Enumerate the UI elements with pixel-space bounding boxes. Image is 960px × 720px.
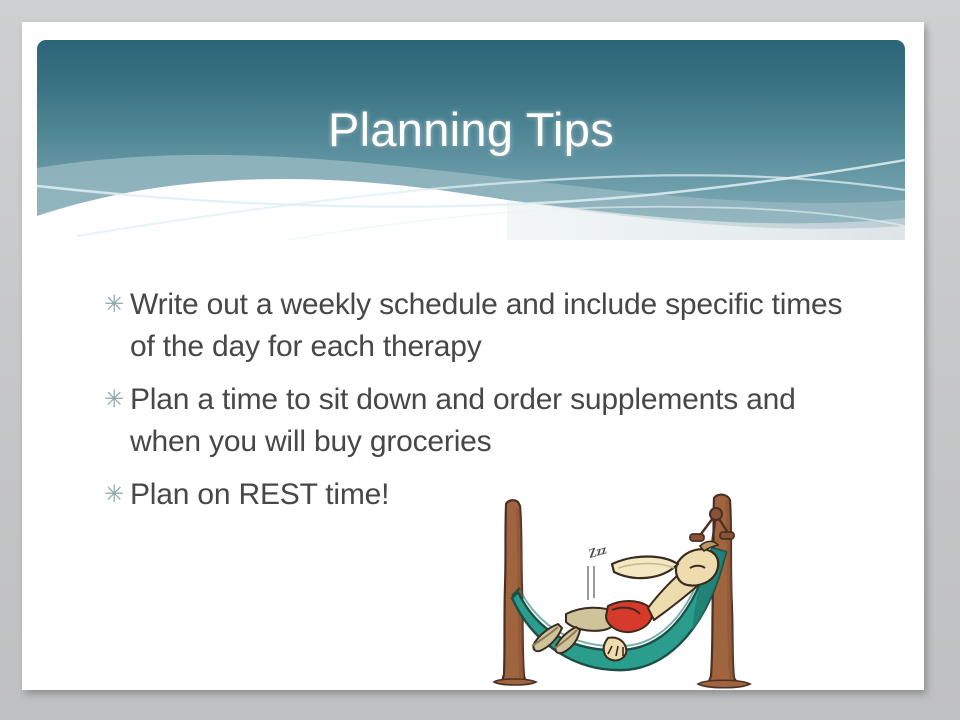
bullet-item: ✳ Plan a time to sit down and order supp…	[104, 379, 864, 463]
presentation-slide: Planning Tips ✳ Write out a weekly sched…	[22, 22, 924, 690]
sleep-zzz-marks: Zzz	[586, 541, 609, 561]
rope-bar-right2	[720, 532, 734, 539]
bullet-text: Write out a weekly schedule and include …	[130, 284, 864, 368]
hammock-clipart-image: Zzz	[462, 488, 802, 690]
slide-title-banner: Planning Tips	[37, 40, 905, 240]
man-shirt	[606, 601, 652, 632]
asterisk-bullet-icon: ✳	[104, 284, 130, 324]
hammock-illustration-svg: Zzz	[462, 488, 802, 690]
snore-lines	[588, 566, 594, 600]
page-title: Planning Tips	[37, 102, 905, 157]
bullet-text: Plan a time to sit down and order supple…	[130, 379, 864, 463]
zzz-text: Zzz	[586, 541, 609, 561]
asterisk-bullet-icon: ✳	[104, 474, 130, 514]
rope-knot-right	[710, 508, 722, 520]
rope-bar-right	[690, 534, 704, 541]
tree-base-left	[494, 679, 536, 685]
bullet-item: ✳ Write out a weekly schedule and includ…	[104, 284, 864, 368]
tree-base-right	[698, 680, 750, 688]
asterisk-bullet-icon: ✳	[104, 379, 130, 419]
